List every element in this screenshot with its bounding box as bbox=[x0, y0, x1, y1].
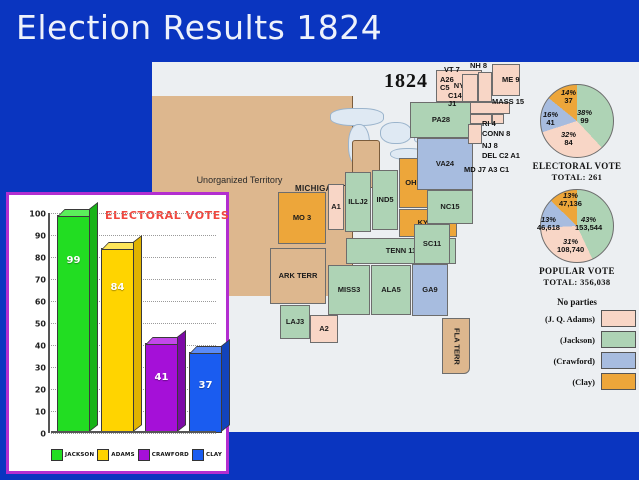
bar-clay: 37 bbox=[189, 352, 222, 433]
electoral-slice-crawford: 16%41 bbox=[543, 111, 558, 127]
bar-legend-label-crawford: CRAWFORD bbox=[152, 452, 189, 458]
state-in: IND5 bbox=[372, 170, 398, 230]
popular-slice-jackson: 43%153,544 bbox=[575, 216, 602, 232]
bar-legend-item-adams: ADAMS bbox=[97, 449, 135, 461]
ytick-50: 50 bbox=[35, 320, 46, 329]
state-nj bbox=[468, 124, 482, 144]
electoral-slice-clay: 14%37 bbox=[561, 89, 576, 105]
ytick-80: 80 bbox=[35, 254, 46, 263]
map-legend-swatch-adams bbox=[601, 310, 636, 327]
map-legend-item-crawford: (Crawford) bbox=[518, 352, 636, 369]
ytick-20: 20 bbox=[35, 386, 46, 395]
ytick-0: 0 bbox=[40, 430, 46, 439]
popular-slice-adams: 31%108,740 bbox=[557, 238, 584, 254]
bar-legend-swatch-crawford bbox=[138, 449, 150, 461]
callout-md: MD J7 A3 C1 bbox=[464, 166, 509, 175]
bar-legend-swatch-jackson bbox=[51, 449, 63, 461]
bar-value-adams: 84 bbox=[102, 282, 133, 293]
callout-me: ME 9 bbox=[502, 76, 520, 85]
map-legend-swatch-clay bbox=[601, 373, 636, 390]
bar-crawford-side bbox=[177, 330, 186, 432]
callout-ri: RI 4 bbox=[482, 120, 496, 129]
popular-slice-crawford: 13%46,618 bbox=[537, 216, 560, 232]
callout-del: DEL C2 A1 bbox=[482, 152, 520, 161]
electoral-vote-caption: ELECTORAL VOTE TOTAL: 261 bbox=[518, 161, 636, 183]
state-al: ALA5 bbox=[371, 265, 411, 315]
map-legend-swatch-jackson bbox=[601, 331, 636, 348]
callout-vt: VT 7 bbox=[444, 66, 460, 75]
callout-nj: NJ 8 bbox=[482, 142, 498, 151]
electoral-votes-bar-chart: ELECTORAL VOTES 100 90 80 70 60 50 40 30… bbox=[6, 192, 229, 474]
popular-vote-pie-chart: 43%153,544 31%108,740 13%46,618 13%47,13… bbox=[540, 189, 614, 263]
bar-value-clay: 37 bbox=[190, 380, 221, 391]
bar-legend-swatch-clay bbox=[192, 449, 204, 461]
bar-legend-label-adams: ADAMS bbox=[111, 452, 135, 458]
bar-crawford: 41 bbox=[145, 343, 178, 433]
bar-jackson-side bbox=[89, 202, 98, 432]
state-fla-terr: FLA TERR bbox=[442, 318, 470, 374]
bar-value-jackson: 99 bbox=[58, 255, 89, 266]
bar-chart-legend: JACKSON ADAMS CRAWFORD CLAY bbox=[51, 449, 220, 461]
state-la-adams: A2 bbox=[310, 315, 338, 343]
state-nh bbox=[478, 72, 492, 102]
map-legend-item-adams: (J. Q. Adams) bbox=[518, 310, 636, 327]
state-vt bbox=[462, 74, 478, 102]
bar-legend-item-jackson: JACKSON bbox=[51, 449, 94, 461]
electoral-vote-pie-chart: 38%99 32%84 16%41 14%37 bbox=[540, 84, 614, 158]
callout-nh: NH 8 bbox=[470, 62, 487, 71]
state-mo: MO 3 bbox=[278, 192, 326, 244]
map-legend-heading: No parties bbox=[518, 297, 636, 307]
map-legend-label-adams: (J. Q. Adams) bbox=[545, 314, 595, 324]
map-year-label: 1824 bbox=[384, 70, 428, 93]
bar-legend-label-clay: CLAY bbox=[206, 452, 222, 458]
bar-legend-item-crawford: CRAWFORD bbox=[138, 449, 189, 461]
popular-slice-clay: 13%47,136 bbox=[559, 192, 582, 208]
ytick-70: 70 bbox=[35, 276, 46, 285]
map-legend-item-clay: (Clay) bbox=[518, 373, 636, 390]
ytick-60: 60 bbox=[35, 298, 46, 307]
map-legend-label-clay: (Clay) bbox=[572, 377, 595, 387]
state-pa: PA28 bbox=[410, 102, 472, 138]
bar-legend-label-jackson: JACKSON bbox=[65, 452, 94, 458]
bar-clay-side bbox=[221, 339, 230, 432]
unorganized-territory-label: Unorganized Territory bbox=[172, 172, 307, 189]
page-title: Election Results 1824 bbox=[16, 8, 382, 47]
map-legend-item-jackson: (Jackson) bbox=[518, 331, 636, 348]
map-legend-label-jackson: (Jackson) bbox=[560, 335, 595, 345]
bar-jackson: 99 bbox=[57, 215, 90, 433]
bar-legend-swatch-adams bbox=[97, 449, 109, 461]
ytick-10: 10 bbox=[35, 408, 46, 417]
slide-canvas: Election Results 1824 1824 Unorganized T… bbox=[0, 0, 639, 480]
state-ga: GA9 bbox=[412, 264, 448, 316]
bar-adams-side bbox=[133, 235, 142, 432]
state-il: ILLJ2 bbox=[345, 172, 371, 232]
callout-ny-j1: J1 bbox=[448, 100, 456, 109]
ytick-30: 30 bbox=[35, 364, 46, 373]
gridline-0: 0 bbox=[51, 433, 216, 434]
map-legend-swatch-crawford bbox=[601, 352, 636, 369]
state-nc: NC15 bbox=[427, 190, 473, 224]
map-legend-label-crawford: (Crawford) bbox=[553, 356, 595, 366]
state-ms: MISS3 bbox=[328, 265, 370, 315]
callout-conn: CONN 8 bbox=[482, 130, 510, 139]
ytick-100: 100 bbox=[29, 210, 46, 219]
bar-legend-item-clay: CLAY bbox=[192, 449, 222, 461]
state-ark-terr: ARK TERR bbox=[270, 248, 326, 304]
ytick-90: 90 bbox=[35, 232, 46, 241]
state-sc: SC11 bbox=[414, 224, 450, 264]
state-va: VA24 bbox=[417, 138, 473, 190]
bar-chart-plot-area: 100 90 80 70 60 50 40 30 20 10 0 99 bbox=[51, 213, 216, 433]
bar-value-crawford: 41 bbox=[146, 372, 177, 383]
popular-vote-caption: POPULAR VOTE TOTAL: 356,038 bbox=[518, 266, 636, 288]
bar-adams: 84 bbox=[101, 248, 134, 433]
state-la: LAJ3 bbox=[280, 305, 310, 339]
electoral-slice-jackson: 38%99 bbox=[577, 109, 592, 125]
vote-statistics-column: 38%99 32%84 16%41 14%37 ELECTORAL VOTE T… bbox=[518, 84, 636, 394]
x-axis-baseline bbox=[51, 431, 216, 433]
electoral-slice-adams: 32%84 bbox=[561, 131, 576, 147]
ytick-40: 40 bbox=[35, 342, 46, 351]
map-legend: No parties (J. Q. Adams) (Jackson) (Craw… bbox=[518, 297, 636, 390]
lake-huron bbox=[380, 122, 412, 144]
state-il-adams: A1 bbox=[328, 184, 344, 230]
